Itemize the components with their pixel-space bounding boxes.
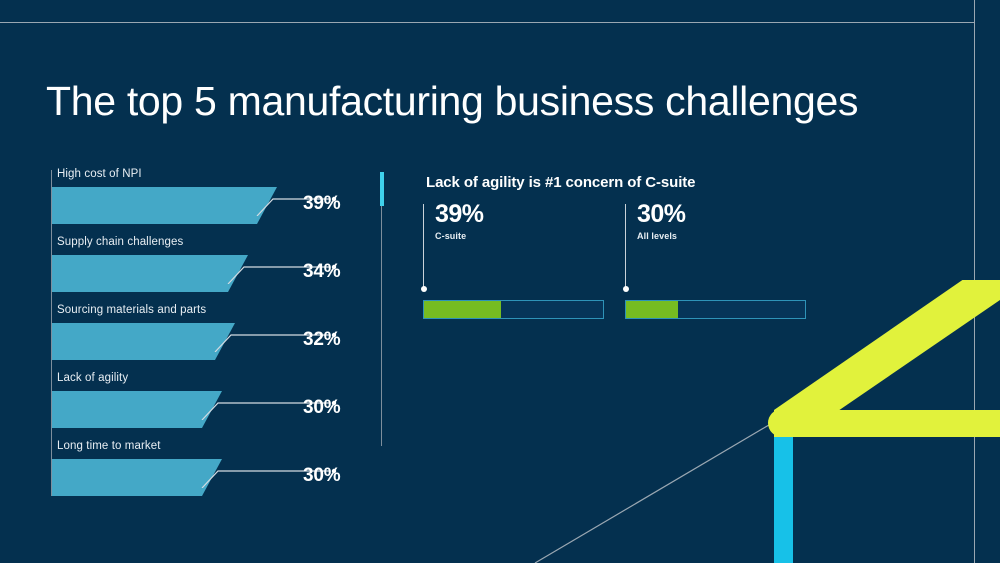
stat-connector-line	[625, 204, 626, 288]
bar-label: Long time to market	[57, 440, 161, 452]
bar-value: 30%	[303, 397, 340, 419]
slide-canvas: The top 5 manufacturing business challen…	[0, 0, 1000, 563]
stat-progress-fill	[626, 301, 678, 318]
stat-connector-dot	[623, 286, 629, 292]
stat-sublabel: All levels	[637, 231, 677, 241]
bar-value: 30%	[303, 465, 340, 487]
bar-value: 39%	[303, 193, 340, 215]
bar-shape	[52, 255, 317, 292]
bar-row: Supply chain challenges 34%	[46, 236, 366, 304]
bar-row: High cost of NPI 39%	[46, 168, 366, 236]
bar-shape	[52, 323, 317, 360]
stat-value: 30%	[637, 200, 686, 229]
panel-accent-rule	[381, 206, 382, 446]
stat-progress-fill	[424, 301, 501, 318]
page-title: The top 5 manufacturing business challen…	[46, 78, 858, 125]
bar-label: Sourcing materials and parts	[57, 304, 206, 316]
bar-label: High cost of NPI	[57, 168, 142, 180]
stat-value: 39%	[435, 200, 484, 229]
bar-row: Long time to market 30%	[46, 440, 366, 508]
bar-row: Lack of agility 30%	[46, 372, 366, 440]
bar-value: 32%	[303, 329, 340, 351]
c-suite-panel: Lack of agility is #1 concern of C-suite…	[380, 170, 880, 460]
bar-row: Sourcing materials and parts 32%	[46, 304, 366, 372]
bar-label: Supply chain challenges	[57, 236, 183, 248]
right-margin-line	[974, 0, 975, 563]
header-divider-line	[0, 22, 975, 23]
bar-shape	[52, 459, 317, 496]
bar-value: 34%	[303, 261, 340, 283]
bar-shape	[52, 187, 317, 224]
stat-progress-track	[625, 300, 806, 319]
panel-heading: Lack of agility is #1 concern of C-suite	[426, 174, 695, 191]
stat-sublabel: C-suite	[435, 231, 466, 241]
stat-connector-dot	[421, 286, 427, 292]
bar-label: Lack of agility	[57, 372, 128, 384]
bar-shape	[52, 391, 317, 428]
panel-accent-marker	[380, 172, 384, 206]
challenges-bar-chart: High cost of NPI 39% Supply chain challe…	[46, 168, 366, 498]
stat-connector-line	[423, 204, 424, 288]
stat-progress-track	[423, 300, 604, 319]
